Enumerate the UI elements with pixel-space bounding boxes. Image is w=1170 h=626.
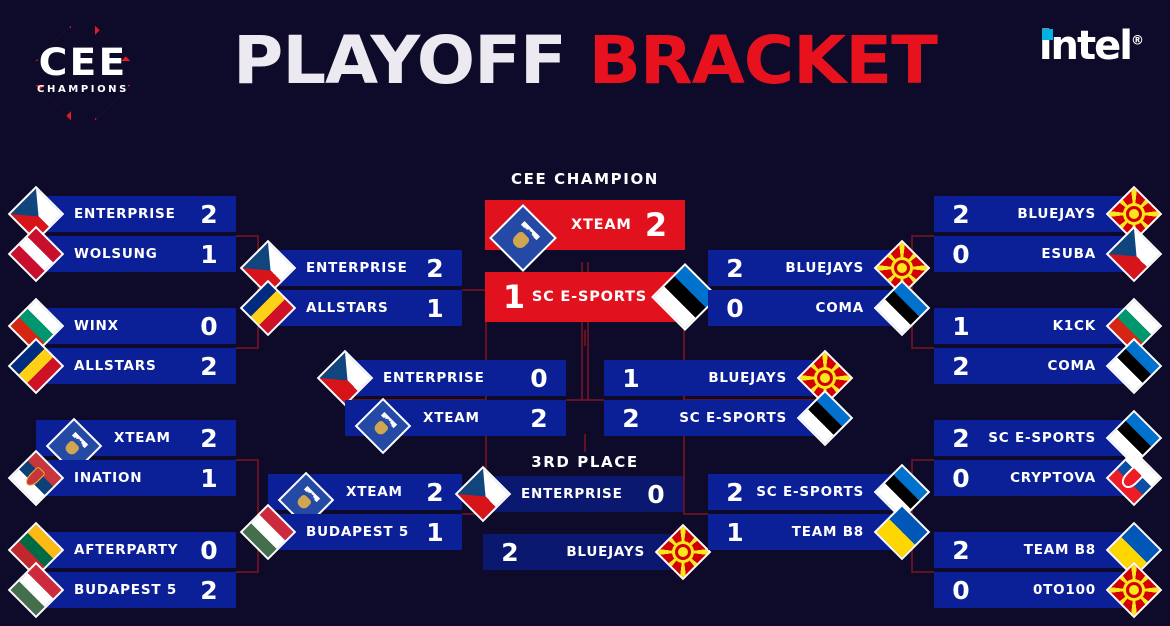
match-row[interactable]: AFTERPARTY 0 — [36, 532, 236, 568]
playoff-bracket: ENTERPRISE 2 WOLSUNG 1 WINX 0 ALLSTARS 2… — [0, 0, 1170, 626]
team-name: TEAM B8 — [972, 542, 1096, 558]
team-score: 0 — [950, 578, 972, 603]
match-left-qf-4[interactable]: AFTERPARTY 0 BUDAPEST 5 2 — [36, 532, 236, 608]
match-third-place-top[interactable]: ENTERPRISE 0 — [483, 476, 683, 512]
match-row[interactable]: 0 0TO100 — [934, 572, 1134, 608]
team-name: BUDAPEST 5 — [74, 582, 198, 598]
team-name: BUDAPEST 5 — [306, 524, 424, 540]
champion-caption: CEE CHAMPION — [435, 170, 735, 188]
match-row[interactable]: 1 K1CK — [934, 308, 1134, 344]
match-row[interactable]: XTEAM 2 — [345, 400, 566, 436]
match-row[interactable]: 0 ESUBA — [934, 236, 1134, 272]
match-row[interactable]: BUDAPEST 5 1 — [268, 514, 462, 550]
team-score: 2 — [620, 406, 642, 431]
team-name: XTEAM — [346, 484, 424, 500]
team-name: SC E-SPORTS — [642, 410, 787, 426]
team-score: 1 — [950, 314, 972, 339]
match-right-qf-2[interactable]: 1 K1CK 2 COMA — [934, 308, 1134, 384]
match-right-r2-1[interactable]: 2 BLUEJAYS 0 COMA — [708, 250, 902, 326]
match-left-qf-1[interactable]: ENTERPRISE 2 WOLSUNG 1 — [36, 196, 236, 272]
match-row[interactable]: 2 BLUEJAYS — [934, 196, 1134, 232]
team-score: 2 — [950, 538, 972, 563]
team-name: WOLSUNG — [74, 246, 198, 262]
match-final-runnerup[interactable]: 1 SC E-SPORTS — [485, 272, 685, 322]
team-score: 1 — [198, 466, 220, 491]
match-row[interactable]: ENTERPRISE 2 — [268, 250, 462, 286]
team-name: INATION — [74, 470, 198, 486]
team-name: SC E-SPORTS — [972, 430, 1096, 446]
team-score: 0 — [950, 242, 972, 267]
team-name: TEAM B8 — [746, 524, 864, 540]
match-row[interactable]: ENTERPRISE 0 — [483, 476, 683, 512]
team-name: SC E-SPORTS — [746, 484, 864, 500]
match-row[interactable]: BUDAPEST 5 2 — [36, 572, 236, 608]
team-score: 0 — [724, 296, 746, 321]
team-score: 2 — [198, 426, 220, 451]
match-third-place-bottom[interactable]: 2 BLUEJAYS — [483, 534, 683, 570]
team-score: 0 — [950, 466, 972, 491]
team-name: AFTERPARTY — [74, 542, 198, 558]
team-score: 2 — [198, 354, 220, 379]
team-score: 2 — [724, 256, 746, 281]
team-score: 2 — [424, 256, 446, 281]
team-name: COMA — [972, 358, 1096, 374]
match-right-qf-4[interactable]: 2 TEAM B8 0 0TO100 — [934, 532, 1134, 608]
match-left-qf-2[interactable]: WINX 0 ALLSTARS 2 — [36, 308, 236, 384]
match-right-r2-2[interactable]: 2 SC E-SPORTS 1 TEAM B8 — [708, 474, 902, 550]
team-name: WINX — [74, 318, 198, 334]
match-right-qf-3[interactable]: 2 SC E-SPORTS 0 CRYPTOVA — [934, 420, 1134, 496]
match-row[interactable]: 2 TEAM B8 — [934, 532, 1134, 568]
match-row[interactable]: ENTERPRISE 0 — [345, 360, 566, 396]
team-name: BLUEJAYS — [642, 370, 787, 386]
match-final-winner[interactable]: XTEAM 2 — [485, 200, 685, 250]
match-row[interactable]: 0 CRYPTOVA — [934, 460, 1134, 496]
match-left-r2-1[interactable]: ENTERPRISE 2 ALLSTARS 1 — [268, 250, 462, 326]
team-name: BLUEJAYS — [521, 544, 645, 560]
team-name: ALLSTARS — [306, 300, 424, 316]
match-right-qf-1[interactable]: 2 BLUEJAYS 0 ESUBA — [934, 196, 1134, 272]
team-score: 1 — [424, 296, 446, 321]
match-row[interactable]: 2 BLUEJAYS — [483, 534, 683, 570]
match-row[interactable]: INATION 1 — [36, 460, 236, 496]
team-score: 2 — [424, 480, 446, 505]
team-name: 0TO100 — [972, 582, 1096, 598]
team-score: 1 — [620, 366, 642, 391]
team-name: ENTERPRISE — [383, 370, 528, 386]
match-row[interactable]: 1 TEAM B8 — [708, 514, 902, 550]
match-row[interactable]: ENTERPRISE 2 — [36, 196, 236, 232]
match-row[interactable]: XTEAM 2 — [485, 200, 685, 250]
team-score: 2 — [528, 406, 550, 431]
match-row[interactable]: 2 BLUEJAYS — [708, 250, 902, 286]
team-name: BLUEJAYS — [746, 260, 864, 276]
team-score: 0 — [528, 366, 550, 391]
match-row[interactable]: ALLSTARS 2 — [36, 348, 236, 384]
team-score: 2 — [499, 540, 521, 565]
team-name: COMA — [746, 300, 864, 316]
team-score: 2 — [198, 578, 220, 603]
match-row[interactable]: WOLSUNG 1 — [36, 236, 236, 272]
match-row[interactable]: 1 SC E-SPORTS — [485, 272, 685, 322]
match-row[interactable]: 2 SC E-SPORTS — [934, 420, 1134, 456]
team-name: CRYPTOVA — [972, 470, 1096, 486]
match-row[interactable]: 2 SC E-SPORTS — [604, 400, 825, 436]
team-name: K1CK — [972, 318, 1096, 334]
team-name: XTEAM — [114, 430, 198, 446]
team-score: 2 — [950, 426, 972, 451]
match-row[interactable]: WINX 0 — [36, 308, 236, 344]
team-score: 2 — [950, 202, 972, 227]
team-score: 0 — [198, 314, 220, 339]
team-score: 2 — [950, 354, 972, 379]
team-name: ENTERPRISE — [306, 260, 424, 276]
match-left-r2-2[interactable]: XTEAM 2 BUDAPEST 5 1 — [268, 474, 462, 550]
team-name: XTEAM — [571, 217, 643, 233]
team-name: ENTERPRISE — [74, 206, 198, 222]
team-name: BLUEJAYS — [972, 206, 1096, 222]
team-score: 1 — [724, 520, 746, 545]
team-score: 1 — [501, 281, 527, 313]
team-name: ALLSTARS — [74, 358, 198, 374]
team-name: ESUBA — [972, 246, 1096, 262]
match-row[interactable]: XTEAM 2 — [36, 420, 236, 456]
team-score: 2 — [198, 202, 220, 227]
match-row[interactable]: 0 COMA — [708, 290, 902, 326]
team-name: ENTERPRISE — [521, 486, 645, 502]
match-row[interactable]: XTEAM 2 — [268, 474, 462, 510]
team-name: SC E-SPORTS — [527, 289, 647, 305]
team-score: 1 — [198, 242, 220, 267]
match-row[interactable]: ALLSTARS 1 — [268, 290, 462, 326]
match-row[interactable]: 1 BLUEJAYS — [604, 360, 825, 396]
team-score: 0 — [198, 538, 220, 563]
team-score: 1 — [424, 520, 446, 545]
team-score: 2 — [643, 209, 669, 241]
match-left-semifinal[interactable]: ENTERPRISE 0 XTEAM 2 — [345, 360, 566, 436]
match-row[interactable]: 2 COMA — [934, 348, 1134, 384]
team-name: XTEAM — [423, 410, 528, 426]
match-row[interactable]: 2 SC E-SPORTS — [708, 474, 902, 510]
team-score: 2 — [724, 480, 746, 505]
match-left-qf-3[interactable]: XTEAM 2 INATION 1 — [36, 420, 236, 496]
team-score: 0 — [645, 482, 667, 507]
match-right-semifinal[interactable]: 1 BLUEJAYS 2 SC E-SPORTS — [604, 360, 825, 436]
